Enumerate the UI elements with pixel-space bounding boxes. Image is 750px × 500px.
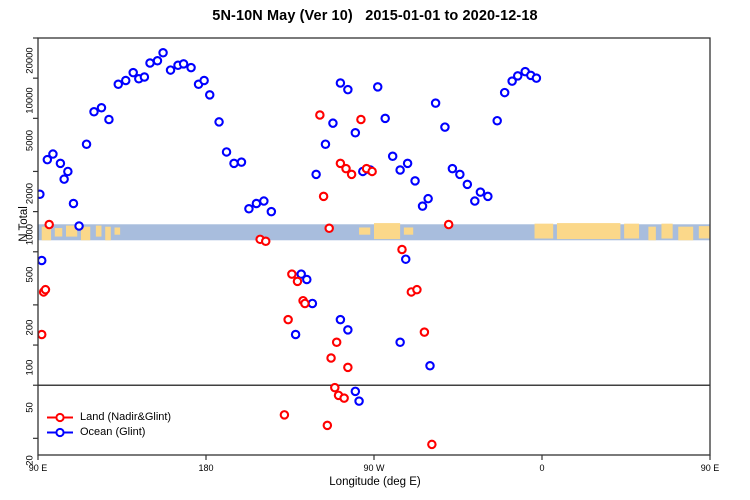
land-mass: [678, 227, 693, 241]
data-point: [42, 286, 49, 293]
data-point: [83, 141, 90, 148]
land-mass: [719, 227, 732, 234]
data-point: [396, 166, 403, 173]
land-mass: [359, 227, 370, 234]
data-point: [352, 388, 359, 395]
land-mass: [740, 227, 750, 234]
chart-figure: 5N-10N May (Ver 10) 2015-01-01 to 2020-1…: [0, 0, 750, 500]
data-point: [187, 64, 194, 71]
data-point: [402, 255, 409, 262]
data-point: [292, 331, 299, 338]
data-point: [344, 326, 351, 333]
data-point: [464, 181, 471, 188]
data-point: [337, 79, 344, 86]
data-point: [355, 397, 362, 404]
data-point: [322, 141, 329, 148]
data-point: [90, 108, 97, 115]
data-point: [262, 238, 269, 245]
data-point: [309, 300, 316, 307]
data-point: [115, 81, 122, 88]
data-point: [146, 59, 153, 66]
data-point: [494, 117, 501, 124]
data-point: [105, 116, 112, 123]
data-point: [368, 168, 375, 175]
data-point: [303, 276, 310, 283]
data-point: [398, 246, 405, 253]
land-mass: [535, 224, 554, 239]
x-tick-label: 90 W: [344, 463, 404, 473]
data-point: [484, 193, 491, 200]
data-point: [471, 197, 478, 204]
data-point: [260, 197, 267, 204]
data-point: [98, 104, 105, 111]
legend-label-land: Land (Nadir&Glint): [80, 410, 171, 425]
data-point: [352, 129, 359, 136]
data-point: [230, 160, 237, 167]
data-point: [374, 83, 381, 90]
data-point: [320, 193, 327, 200]
y-tick-label: 2000: [25, 170, 36, 218]
data-point: [477, 188, 484, 195]
legend-swatch-land-icon: [47, 411, 73, 424]
data-point: [49, 150, 56, 157]
data-point: [223, 148, 230, 155]
data-point: [64, 168, 71, 175]
data-point: [268, 208, 275, 215]
data-point: [75, 222, 82, 229]
land-mass: [661, 224, 672, 239]
data-point: [348, 171, 355, 178]
legend-swatch-ocean-icon: [47, 426, 73, 439]
data-point: [456, 171, 463, 178]
chart-title: 5N-10N May (Ver 10) 2015-01-01 to 2020-1…: [0, 8, 750, 24]
data-point: [294, 278, 301, 285]
x-tick-label: 180: [176, 463, 236, 473]
data-point: [238, 158, 245, 165]
data-point: [432, 99, 439, 106]
land-mass: [55, 228, 62, 236]
data-point: [396, 339, 403, 346]
land-mass: [96, 226, 102, 237]
data-point: [324, 422, 331, 429]
data-points: [36, 49, 540, 448]
y-tick-label: 20000: [25, 37, 36, 85]
land-mass: [374, 223, 400, 239]
x-tick-label: 0: [512, 463, 572, 473]
data-point: [327, 354, 334, 361]
data-point: [501, 89, 508, 96]
land-mass: [557, 223, 620, 239]
data-point: [284, 316, 291, 323]
data-point: [424, 195, 431, 202]
geographic-map-strip: [38, 223, 750, 240]
data-point: [301, 300, 308, 307]
data-point: [60, 175, 67, 182]
data-point: [411, 177, 418, 184]
data-point: [70, 200, 77, 207]
data-point: [206, 91, 213, 98]
x-tick-label: 90 E: [680, 463, 740, 473]
data-point: [344, 364, 351, 371]
data-point: [428, 441, 435, 448]
data-point: [357, 116, 364, 123]
data-point: [316, 111, 323, 118]
land-mass: [115, 227, 121, 234]
data-point: [200, 77, 207, 84]
data-point: [441, 123, 448, 130]
data-point: [404, 160, 411, 167]
data-point: [413, 286, 420, 293]
data-point: [167, 66, 174, 73]
data-point: [36, 191, 43, 198]
plot-frame: [38, 38, 710, 455]
data-point: [245, 205, 252, 212]
chart-legend: Land (Nadir&Glint) Ocean (Glint): [47, 410, 171, 440]
data-point: [57, 160, 64, 167]
data-point: [337, 316, 344, 323]
legend-item-land[interactable]: Land (Nadir&Glint): [47, 410, 171, 425]
legend-label-ocean: Ocean (Glint): [80, 425, 145, 440]
land-mass: [624, 224, 639, 239]
data-point: [421, 328, 428, 335]
data-point: [180, 60, 187, 67]
data-point: [159, 49, 166, 56]
y-tick-label: 20: [25, 437, 36, 485]
data-point: [312, 171, 319, 178]
data-point: [445, 221, 452, 228]
data-point: [426, 362, 433, 369]
data-point: [38, 331, 45, 338]
data-point: [215, 118, 222, 125]
legend-item-ocean[interactable]: Ocean (Glint): [47, 425, 171, 440]
data-point: [253, 200, 260, 207]
data-point: [288, 270, 295, 277]
data-point: [38, 257, 45, 264]
data-point: [122, 77, 129, 84]
axis-ticks: [33, 38, 710, 460]
x-tick-label: 90 E: [8, 463, 68, 473]
land-mass: [404, 227, 413, 234]
data-point: [533, 74, 540, 81]
data-point: [331, 384, 338, 391]
data-point: [514, 72, 521, 79]
data-point: [340, 394, 347, 401]
data-point: [344, 86, 351, 93]
data-point: [46, 221, 53, 228]
data-point: [281, 411, 288, 418]
land-mass: [105, 227, 111, 241]
data-point: [141, 73, 148, 80]
data-point: [326, 225, 333, 232]
data-point: [154, 57, 161, 64]
data-point: [389, 153, 396, 160]
data-point: [382, 115, 389, 122]
land-mass: [648, 227, 655, 241]
data-point: [329, 119, 336, 126]
data-point: [333, 339, 340, 346]
x-axis-label: Longitude (deg E): [0, 476, 750, 488]
y-tick-label: 200: [25, 303, 36, 351]
data-point: [419, 202, 426, 209]
data-point: [449, 165, 456, 172]
